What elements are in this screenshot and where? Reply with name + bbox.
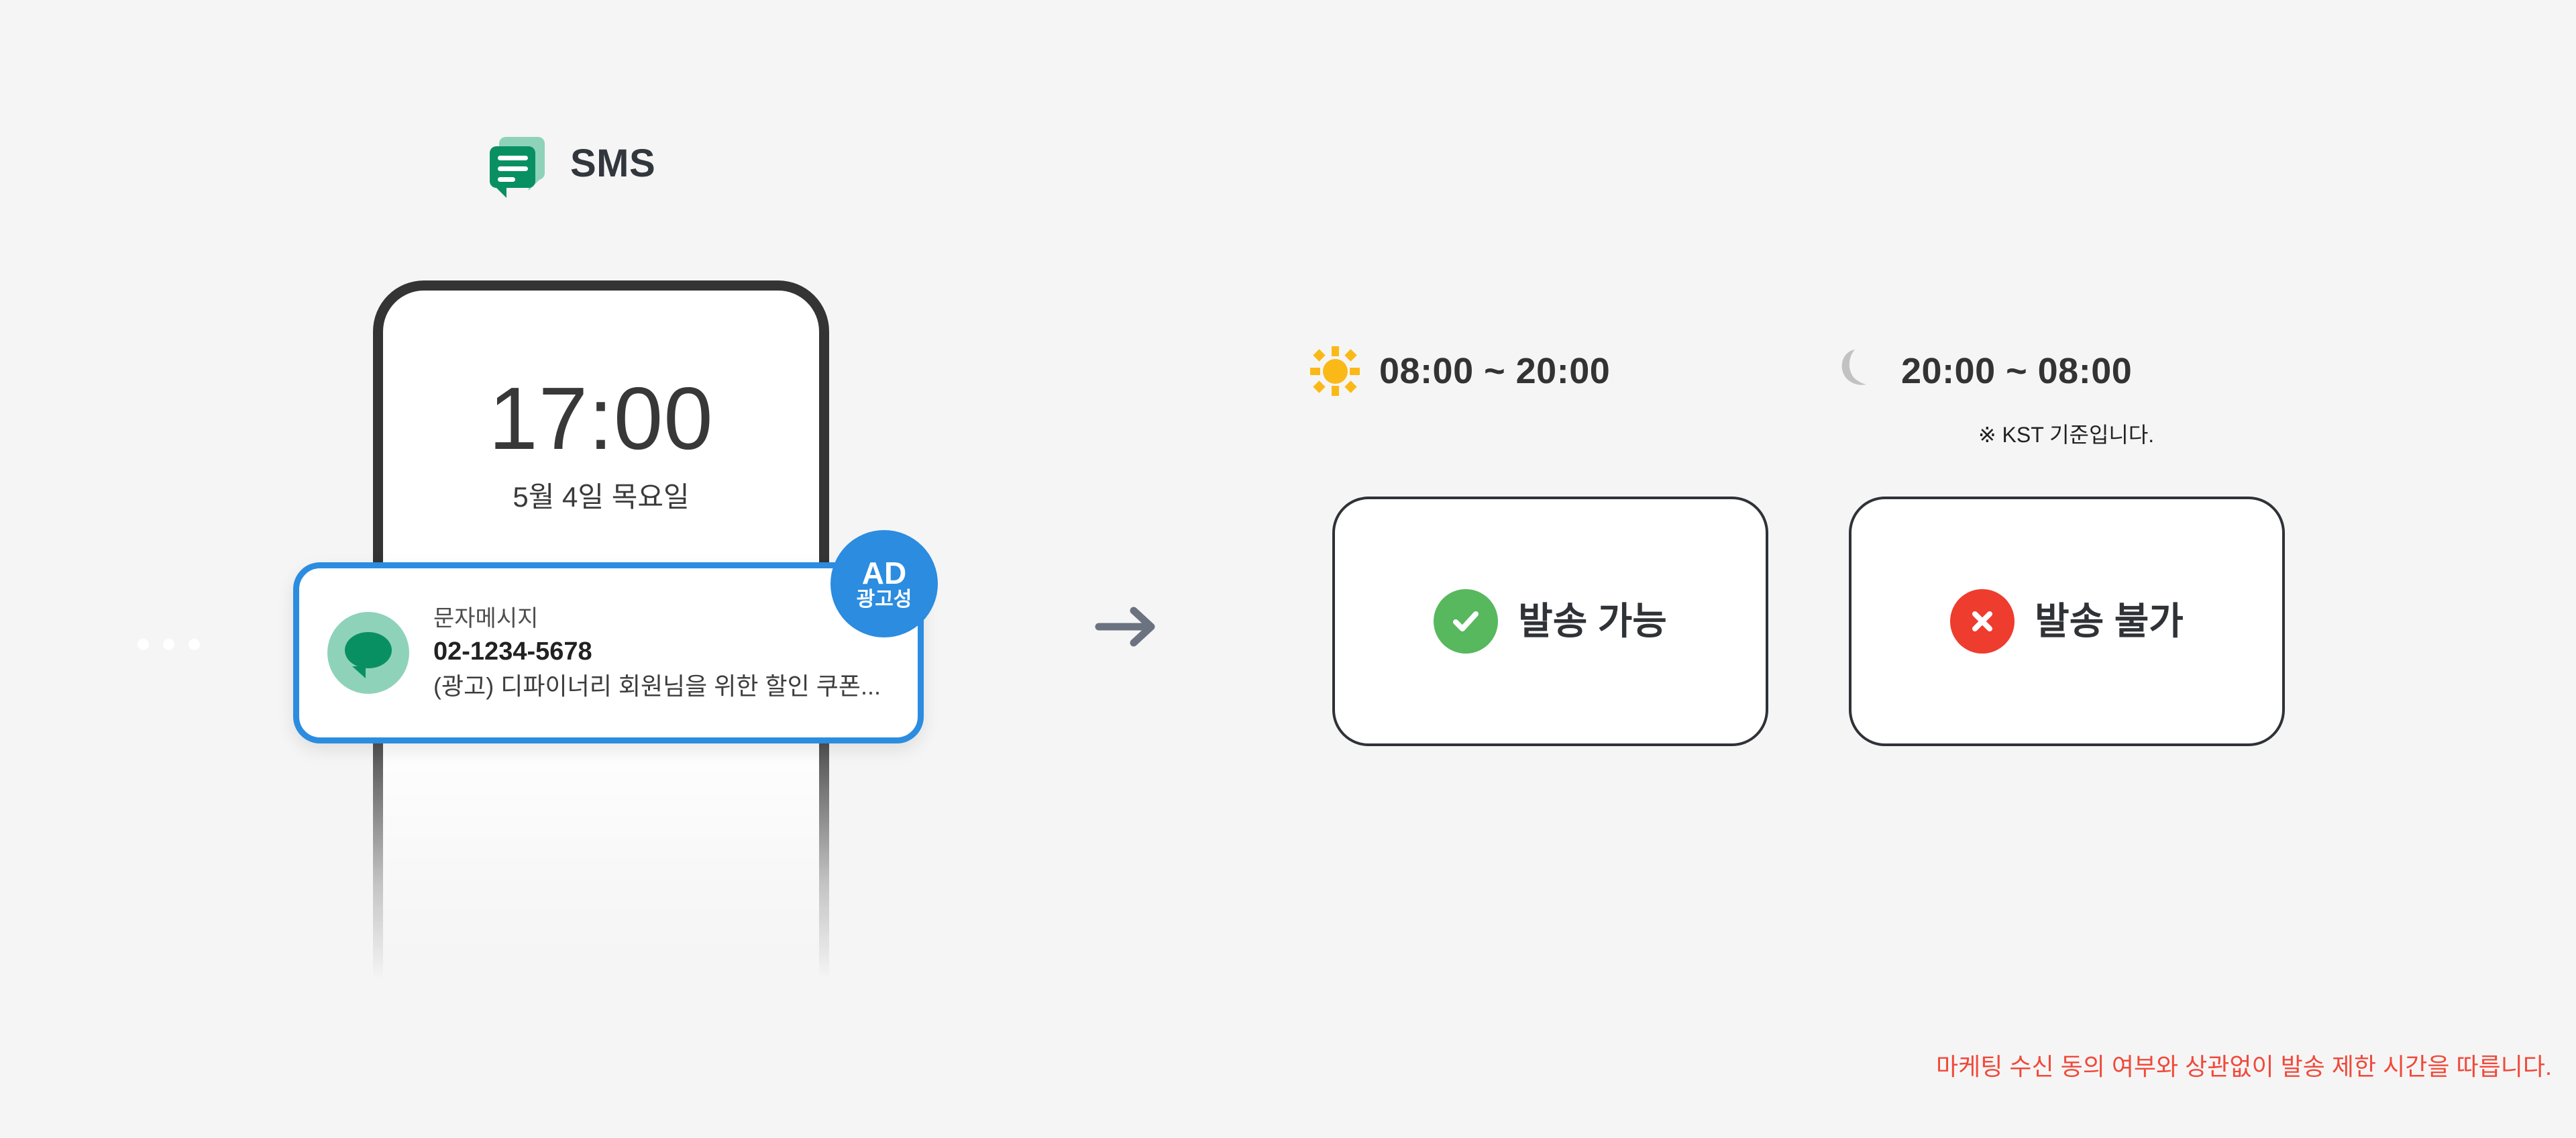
rule-nighttime-time-range: 20:00 ~ 08:00 (1901, 353, 2132, 389)
notification-text-group: 문자메시지 02-1234-5678 (광고) 디파이너리 회원님을 위한 할인… (433, 607, 881, 700)
sending-window-rules: 08:00 ~ 20:00 발송 가능 20:00 ~ 08:00 ※ KST … (1275, 0, 2576, 1138)
footnote-text: 마케팅 수신 동의 여부와 상관없이 발송 제한 시간을 따릅니다. (1936, 1055, 2552, 1079)
check-circle-icon (1434, 589, 1498, 654)
lockscreen-clock-time: 17:00 (393, 374, 809, 463)
notification-app-name: 문자메시지 (433, 607, 881, 631)
notification-sender-number: 02-1234-5678 (433, 638, 881, 666)
status-card-send-blocked: 발송 불가 (1849, 497, 2285, 746)
rule-daytime-header: 08:00 ~ 20:00 (1309, 346, 1610, 397)
moon-icon (1831, 346, 1882, 397)
rule-nighttime-header: 20:00 ~ 08:00 (1831, 346, 2132, 397)
kst-timezone-note: ※ KST 기준입니다. (1811, 424, 2321, 446)
sms-notification-card[interactable]: 문자메시지 02-1234-5678 (광고) 디파이너리 회원님을 위한 할인… (293, 562, 924, 743)
sun-icon (1309, 346, 1360, 397)
notification-preview-text: (광고) 디파이너리 회원님을 위한 할인 쿠폰... (433, 673, 881, 700)
channel-header: SMS (488, 134, 655, 193)
sms-chat-bubbles-icon (488, 134, 547, 193)
ad-badge-sub-label: 광고성 (857, 590, 912, 610)
status-label-send-allowed: 발송 가능 (1518, 603, 1667, 640)
ad-badge: AD 광고성 (830, 530, 938, 637)
rule-daytime-time-range: 08:00 ~ 20:00 (1379, 353, 1610, 389)
lockscreen-clock-date: 5월 4일 목요일 (393, 483, 809, 511)
status-card-send-allowed: 발송 가능 (1332, 497, 1768, 746)
sms-phone-illustration: SMS 17:00 5월 4일 목요일 문자메시지 02-1234-5678 (… (0, 0, 1006, 1138)
channel-title: SMS (570, 144, 655, 183)
arrow-right-icon (1095, 603, 1159, 651)
chat-bubble-icon (327, 612, 409, 694)
x-circle-icon (1950, 589, 2015, 654)
notification-stack-dots (138, 639, 200, 650)
ad-badge-main-label: AD (862, 558, 906, 588)
status-label-send-blocked: 발송 불가 (2035, 603, 2184, 640)
